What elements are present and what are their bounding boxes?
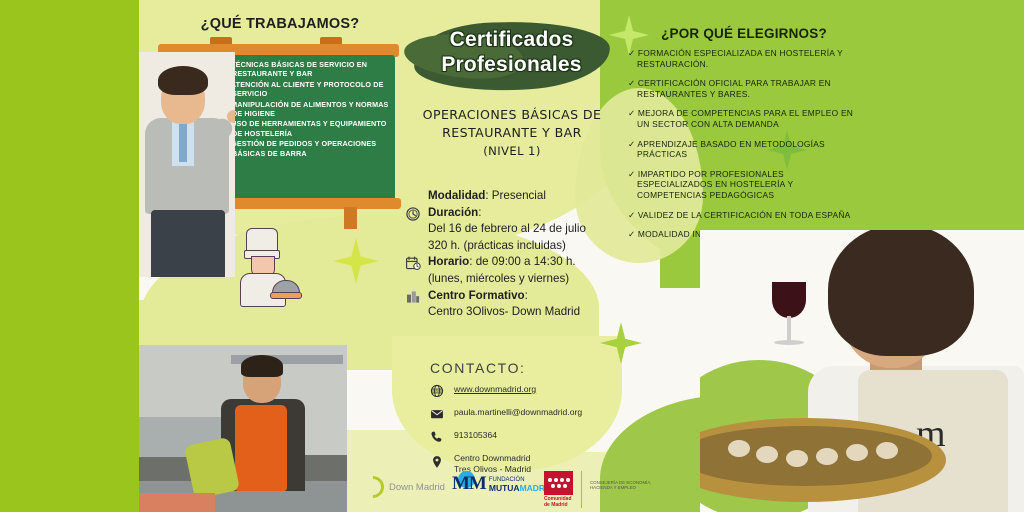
detail-label: Duración [428, 206, 478, 219]
pastry-item [876, 442, 898, 459]
detail-row-horario: Horario: de 09:00 a 14:30 h. [404, 254, 634, 271]
detail-value: de 09:00 a 14:30 h. [476, 255, 576, 268]
detail-label: Horario [428, 255, 469, 268]
wine-glass-stem [787, 316, 791, 342]
background-left-green-band [0, 0, 139, 512]
detail-row-modalidad: Modalidad: Presencial [404, 188, 634, 205]
photo-kitchen-person-hair [241, 355, 283, 377]
detail-separator: : [525, 289, 528, 302]
mail-icon [430, 407, 445, 422]
shield-star [563, 484, 567, 488]
detail-row-dates: Del 16 de febrero al 24 de julio [404, 221, 634, 238]
photo-teacher-hair [158, 66, 208, 95]
course-level: (NIVEL 1) [398, 142, 626, 160]
detail-value: Presencial [492, 189, 546, 202]
detail-row-centro: Centro Formativo: [404, 288, 634, 305]
phone-icon [430, 430, 445, 445]
clock-icon [405, 206, 423, 222]
poster-root: ¿QUÉ TRABAJAMOS? ☑ TÉCNICAS BÁSICAS DE S… [0, 0, 1024, 512]
shield-star [551, 484, 555, 488]
shield-star [557, 484, 561, 488]
shield-star [566, 478, 570, 482]
pastry-item [728, 440, 750, 457]
sparkle-icon-lower [600, 322, 642, 364]
why-choose-us-section: ¿POR QUÉ ELEGIRNOS? ✓ FORMACIÓN ESPECIAL… [628, 26, 860, 249]
wine-glass-icon [772, 282, 806, 318]
photo-teacher [139, 52, 235, 277]
mutua-line2a: MUTUA [489, 483, 520, 493]
detail-row-days: (lunes, miércoles y viernes) [404, 271, 634, 288]
globe-icon [430, 384, 445, 399]
detail-value: (lunes, miércoles y viernes) [428, 272, 569, 285]
contact-address-line1: Centro Downmadrid [454, 453, 530, 463]
page-title-line1: Certificados [404, 27, 619, 52]
photo-kitchen-tray [139, 493, 215, 512]
detail-separator: : [478, 206, 481, 219]
pastry-item [816, 448, 838, 465]
sparkle-icon-center [333, 238, 379, 284]
building-icon [405, 289, 423, 305]
chalkboard-item-text: TÉCNICAS BÁSICAS DE SERVICIO EN RESTAURA… [231, 60, 367, 78]
detail-label: Centro Formativo [428, 289, 525, 302]
photo-teacher-trousers [151, 210, 225, 277]
detail-row-centro-name: Centro 3Olivos- Down Madrid [404, 304, 634, 321]
photo-kitchen-apron [235, 405, 287, 491]
contact-row-website[interactable]: www.downmadrid.org [420, 384, 630, 399]
contact-website-link[interactable]: www.downmadrid.org [454, 384, 536, 394]
shield-star [548, 478, 552, 482]
calendar-icon [405, 255, 423, 271]
photo-teacher-tie [179, 122, 187, 162]
chalkboard-item-text: GESTIÓN DE PEDIDOS Y OPERACIONES BÁSICAS… [231, 139, 376, 157]
photo-woman-hair [828, 230, 974, 356]
left-heading: ¿QUÉ TRABAJAMOS? [165, 16, 395, 32]
contact-row-email[interactable]: paula.martinelli@downmadrid.org [420, 407, 630, 422]
chalkboard-item: ☑ TÉCNICAS BÁSICAS DE SERVICIO EN RESTAU… [222, 60, 390, 79]
logo-down-madrid: Down Madrid [362, 476, 445, 498]
why-item: ✓ VALIDEZ DE LA CERTIFICACIÓN EN TODA ES… [628, 210, 860, 221]
comunidad-line2: de Madrid [544, 503, 573, 509]
photo-kitchen-student [139, 345, 347, 512]
chalkboard-item: ☑ USO DE HERRAMIENTAS Y EQUIPAMIENTO DE … [222, 119, 390, 138]
chalkboard-item-text: USO DE HERRAMIENTAS Y EQUIPAMIENTO DE HO… [231, 119, 386, 137]
consejeria-label: CONSEJERÍA DE ECONOMÍA, HACIENDA Y EMPLE… [590, 480, 662, 508]
down-madrid-label: Down Madrid [389, 482, 445, 493]
why-item: ✓ CERTIFICACIÓN OFICIAL PARA TRABAJAR EN… [628, 78, 860, 99]
pastry-item [786, 450, 808, 467]
logo-divider [581, 471, 582, 508]
chalkboard-item-text: MANIPULACIÓN DE ALIMENTOS Y NORMAS DE HI… [231, 100, 388, 118]
photo-teacher-hand [227, 110, 235, 123]
comunidad-mark: Comunidad de Madrid [544, 471, 573, 508]
wine-glass-foot [774, 340, 804, 345]
chalkboard-list: ☑ TÉCNICAS BÁSICAS DE SERVICIO EN RESTAU… [222, 60, 390, 158]
contact-heading: CONTACTO: [430, 360, 630, 376]
chef-illustration [232, 228, 292, 306]
down-madrid-swoosh-icon [357, 471, 388, 502]
course-details: Modalidad: Presencial Duración: Del 16 d… [404, 188, 634, 321]
pastry-item [756, 446, 778, 463]
why-item: ✓ IMPARTIDO POR PROFESIONALES ESPECIALIZ… [628, 169, 860, 201]
comunidad-shield-icon [544, 471, 573, 495]
why-heading: ¿POR QUÉ ELEGIRNOS? [628, 26, 860, 41]
chalkboard-item: ☑ GESTIÓN DE PEDIDOS Y OPERACIONES BÁSIC… [222, 139, 390, 158]
detail-value: Del 16 de febrero al 24 de julio [428, 222, 586, 235]
why-item: ✓ MEJORA DE COMPETENCIAS PARA EL EMPLEO … [628, 108, 860, 129]
mutua-monogram: MM [452, 473, 486, 495]
page-title: Certificados Profesionales [404, 27, 619, 77]
chef-hand-tray-icon [270, 292, 302, 299]
shield-star [554, 478, 558, 482]
chalkboard-item: ☑ MANIPULACIÓN DE ALIMENTOS Y NORMAS DE … [222, 100, 390, 119]
contact-section: CONTACTO: www.downmadrid.org paula.marti… [420, 360, 630, 483]
course-subtitle: OPERACIONES BÁSICAS DE RESTAURANTE Y BAR… [398, 106, 626, 160]
contact-email-text: paula.martinelli@downmadrid.org [454, 407, 582, 417]
detail-value: Centro 3Olivos- Down Madrid [428, 305, 580, 318]
photo-woman-chef: m [700, 230, 1024, 512]
chalkboard-leg-right [344, 207, 357, 229]
why-item: ✓ FORMACIÓN ESPECIALIZADA EN HOSTELERÍA … [628, 48, 860, 69]
chalkboard-item-text: ATENCIÓN AL CLIENTE Y PROTOCOLO DE SERVI… [231, 80, 384, 98]
logo-bar: Down Madrid MM FUNDACIÓN MUTUAMADRILEÑA … [352, 468, 652, 506]
contact-phone-text: 913105364 [454, 430, 497, 440]
logo-comunidad-de-madrid: Comunidad de Madrid CONSEJERÍA DE ECONOM… [544, 471, 662, 508]
why-item: ✓ APRENDIZAJE BASADO EN METODOLOGÍAS PRÁ… [628, 139, 860, 160]
pastry-item [846, 444, 868, 461]
detail-row-duracion: Duración: [404, 205, 634, 222]
detail-row-hours: 320 h. (prácticas incluidas) [404, 238, 634, 255]
course-subtitle-line1: OPERACIONES BÁSICAS DE [398, 106, 626, 124]
comunidad-wordmark: Comunidad de Madrid [544, 497, 573, 508]
detail-label: Modalidad [428, 189, 485, 202]
course-subtitle-line2: RESTAURANTE Y BAR [398, 124, 626, 142]
page-title-line2: Profesionales [404, 52, 619, 77]
chalkboard-item: ☑ ATENCIÓN AL CLIENTE Y PROTOCOLO DE SER… [222, 80, 390, 99]
contact-row-phone[interactable]: 913105364 [420, 430, 630, 445]
detail-value: 320 h. (prácticas incluidas) [428, 239, 566, 252]
chalkboard-items-list: ☑ TÉCNICAS BÁSICAS DE SERVICIO EN RESTAU… [222, 60, 390, 159]
shield-star [560, 478, 564, 482]
